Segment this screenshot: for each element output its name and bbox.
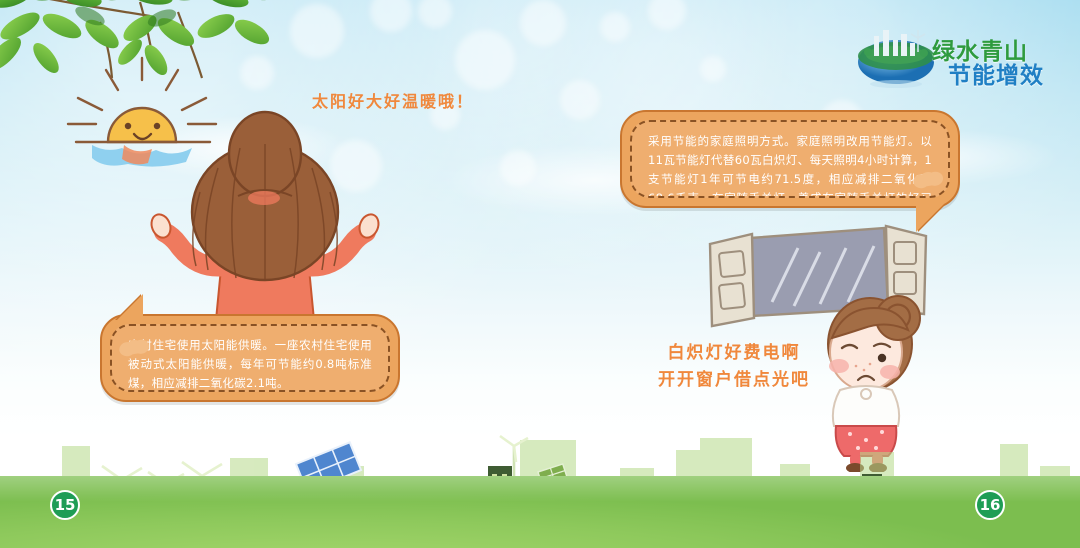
bokeh-circle bbox=[418, 0, 452, 28]
bokeh-circle bbox=[560, 80, 600, 120]
logo-title-line2: 节能增效 bbox=[948, 56, 1044, 90]
grass-foreground bbox=[0, 476, 1080, 548]
speech-bubble-solar-heating: 农村住宅使用太阳能供暖。一座农村住宅使用被动式太阳能供暖，每年可节能约0.8吨标… bbox=[100, 314, 400, 402]
heart-icon bbox=[919, 171, 937, 188]
bokeh-circle bbox=[500, 150, 536, 186]
bokeh-circle bbox=[700, 56, 726, 82]
speech-bubble-energy-lighting: 采用节能的家庭照明方式。家庭照明改用节能灯。以11瓦节能灯代替60瓦白炽灯、每天… bbox=[620, 110, 960, 208]
page-number-left: 15 bbox=[50, 490, 80, 520]
bokeh-circle bbox=[370, 0, 412, 32]
bulb-caption-line2: 开开窗户借点光吧 bbox=[658, 367, 810, 394]
spread-page: 绿水青山 节能增效 bbox=[0, 0, 1080, 548]
girl-back-view-arms-raised-icon bbox=[140, 108, 390, 323]
bokeh-circle bbox=[520, 0, 566, 46]
brand-logo: 绿水青山 节能增效 bbox=[852, 16, 1062, 90]
bokeh-circle bbox=[600, 12, 630, 42]
heart-icon bbox=[125, 339, 143, 356]
bubble-text-right: 采用节能的家庭照明方式。家庭照明改用节能灯。以11瓦节能灯代替60瓦白炽灯、每天… bbox=[630, 120, 950, 198]
bokeh-circle bbox=[455, 30, 515, 90]
bulb-caption-line1: 白炽灯好费电啊 bbox=[658, 340, 810, 367]
bubble-tail bbox=[110, 294, 143, 320]
sun-caption-text: 太阳好大好温暖哦！ bbox=[312, 88, 474, 112]
bokeh-circle bbox=[648, 0, 686, 30]
bubble-text-left: 农村住宅使用太阳能供暖。一座农村住宅使用被动式太阳能供暖，每年可节能约0.8吨标… bbox=[110, 324, 390, 392]
bubble-tail bbox=[916, 204, 952, 232]
bulb-caption-text: 白炽灯好费电啊 开开窗户借点光吧 bbox=[658, 340, 810, 394]
page-number-right: 16 bbox=[975, 490, 1005, 520]
